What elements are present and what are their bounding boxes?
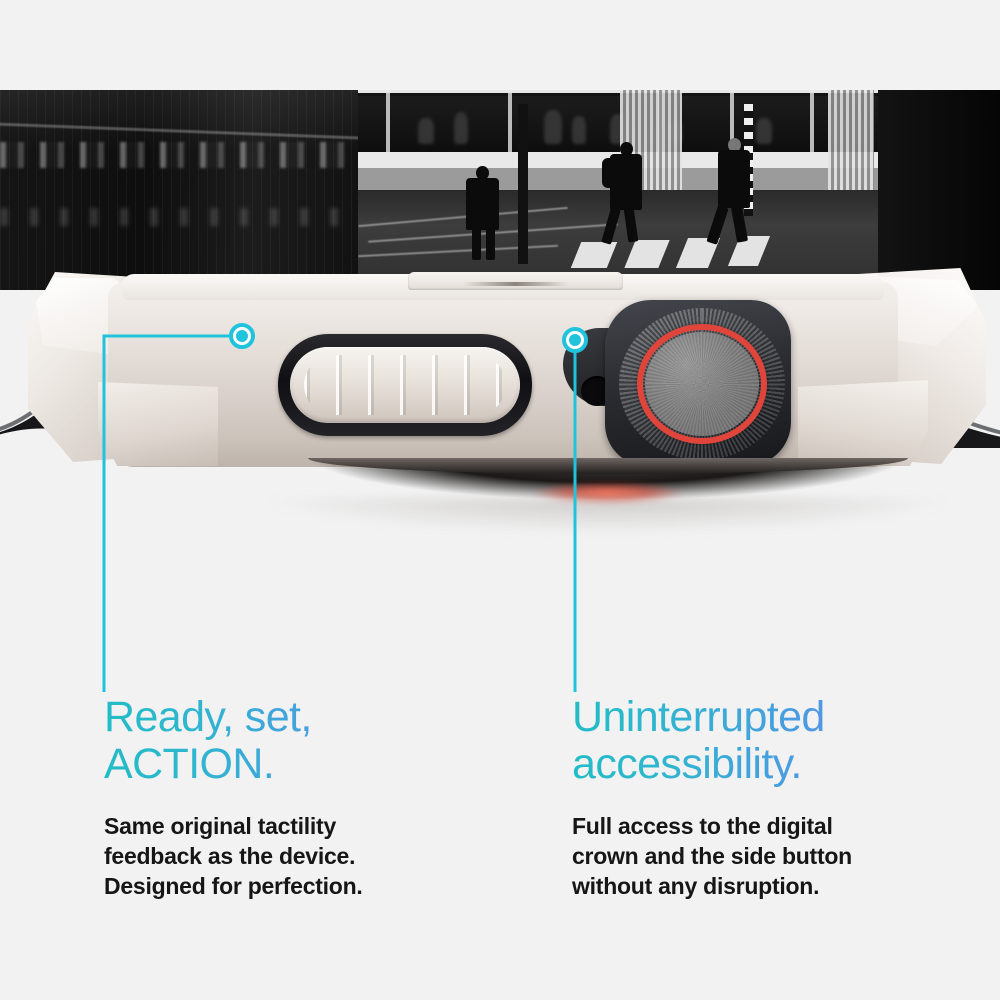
feature-headline: Ready, set, ACTION. [104, 694, 504, 788]
case-underside-edge [308, 458, 908, 474]
feature-block-digital-crown: Uninterrupted accessibility. Full access… [572, 694, 972, 901]
side-button-marker[interactable] [229, 323, 255, 349]
case-notch-slit [463, 282, 568, 286]
marker-dot-icon [236, 330, 248, 342]
case-top-notch [408, 272, 623, 290]
crown-face [645, 332, 759, 436]
feature-body: Same original tactility feedback as the … [104, 811, 504, 901]
case-drop-shadow [258, 498, 958, 534]
feature-block-side-button: Ready, set, ACTION. Same original tactil… [104, 694, 504, 901]
side-button-ribs [304, 355, 506, 415]
side-button[interactable] [278, 334, 532, 436]
smartwatch-case-product [0, 240, 1000, 530]
feature-headline: Uninterrupted accessibility. [572, 694, 972, 788]
case-lug-right [798, 380, 928, 466]
crown-face-texture [645, 332, 759, 436]
feature-body: Full access to the digital crown and the… [572, 811, 972, 901]
product-feature-page: Ready, set, ACTION. Same original tactil… [0, 0, 1000, 1000]
case-lug-left [98, 382, 218, 466]
wall-reflection-band [0, 208, 358, 226]
marker-dot-icon [569, 334, 581, 346]
digital-crown-marker[interactable] [562, 327, 588, 353]
watch-case-body [108, 262, 898, 472]
side-button-cap [290, 347, 520, 423]
wall-diagonal-highlight [0, 122, 358, 141]
digital-crown[interactable] [563, 300, 793, 468]
